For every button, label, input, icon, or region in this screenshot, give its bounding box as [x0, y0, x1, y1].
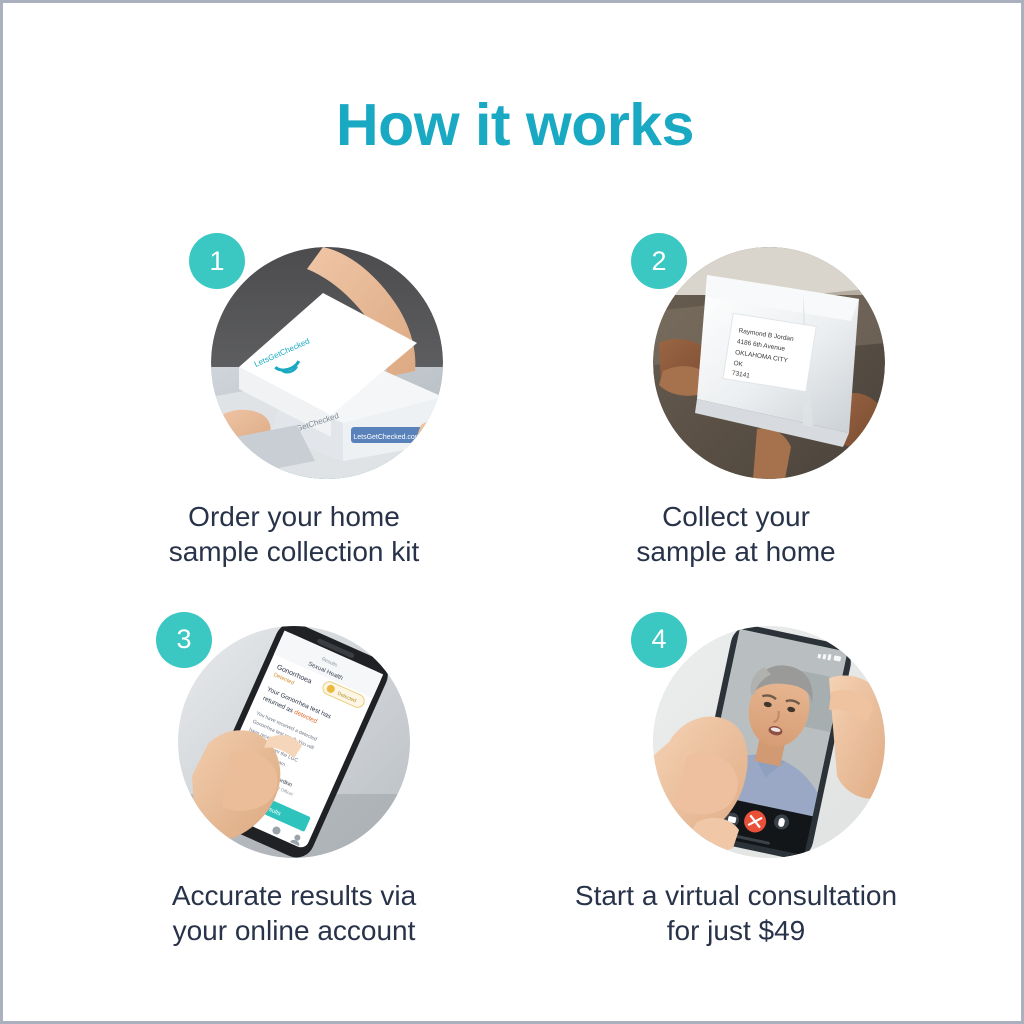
svg-text:LetsGetChecked.com: LetsGetChecked.com [353, 434, 420, 441]
step-media-4: 4 [653, 612, 885, 844]
step-caption-4: Start a virtual consultation for just $4… [575, 878, 897, 949]
photo-phone-showing-results: Results Sexual Health Detected Gonorrhoe… [178, 626, 410, 858]
step-badge-3: 3 [156, 612, 212, 668]
photo-holding-return-mailer: Raymond B Jordan 4186 6th Avenue OKLAHOM… [653, 247, 885, 479]
photo-opening-test-kit-box: LetsGetChecked.com LetsGetChecked LetsGe… [211, 247, 443, 479]
step-media-3: Results Sexual Health Detected Gonorrhoe… [178, 612, 410, 844]
photo-phone-showing-results-illustration: Results Sexual Health Detected Gonorrhoe… [178, 626, 410, 858]
step-badge-2: 2 [631, 233, 687, 289]
step-card-2: Raymond B Jordan 4186 6th Avenue OKLAHOM… [515, 233, 957, 570]
step-caption-3: Accurate results via your online account [172, 878, 416, 949]
step-badge-1: 1 [189, 233, 245, 289]
step-caption-2: Collect your sample at home [636, 499, 835, 570]
step-badge-4: 4 [631, 612, 687, 668]
step-media-1: LetsGetChecked.com LetsGetChecked LetsGe… [211, 233, 443, 465]
steps-grid: LetsGetChecked.com LetsGetChecked LetsGe… [73, 233, 957, 948]
step-card-4: 4 Start a virtual consultation for just … [515, 612, 957, 949]
photo-holding-return-mailer-illustration: Raymond B Jordan 4186 6th Avenue OKLAHOM… [653, 247, 885, 479]
photo-opening-test-kit-box-illustration: LetsGetChecked.com LetsGetChecked LetsGe… [211, 247, 443, 479]
step-card-3: Results Sexual Health Detected Gonorrhoe… [73, 612, 515, 949]
page-title: How it works [3, 91, 1024, 159]
photo-video-consultation-illustration [653, 626, 885, 858]
photo-video-consultation [653, 626, 885, 858]
step-card-1: LetsGetChecked.com LetsGetChecked LetsGe… [73, 233, 515, 570]
how-it-works-panel: How it works [0, 0, 1024, 1024]
step-caption-1: Order your home sample collection kit [169, 499, 420, 570]
step-media-2: Raymond B Jordan 4186 6th Avenue OKLAHOM… [653, 233, 885, 465]
